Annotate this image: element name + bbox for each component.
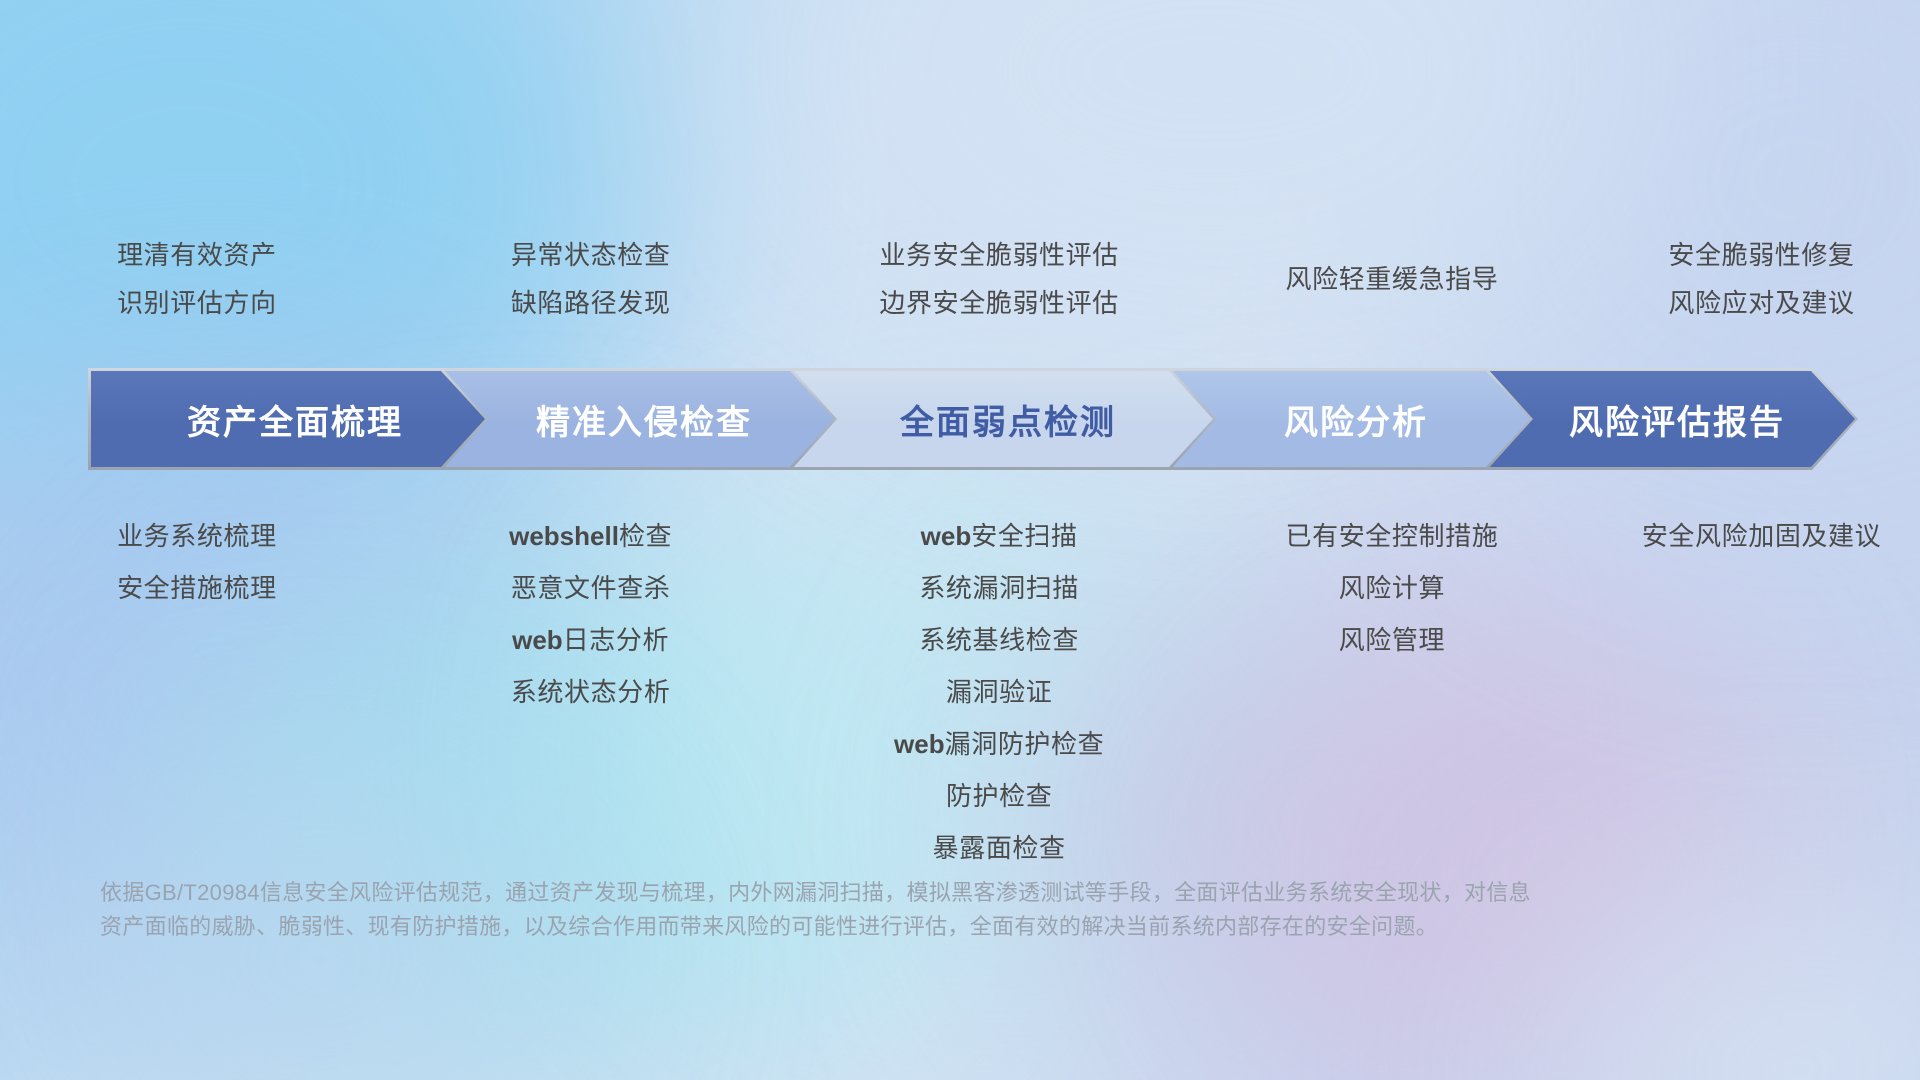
process-stage-risk-report[interactable]: 风险评估报告	[1482, 368, 1858, 470]
activity-item: 业务系统梳理	[117, 523, 277, 549]
outcome-item: 异常状态检查	[511, 242, 671, 268]
process-stage-risk-analysis[interactable]: 风险分析	[1165, 368, 1533, 470]
top-outcomes-risk-analysis: 风险轻重缓急指导	[1211, 224, 1573, 334]
activity-item: 风险计算	[1339, 575, 1445, 601]
top-outcomes-intrusion-check: 异常状态检查缺陷路径发现	[394, 224, 788, 334]
activity-latin: web	[512, 625, 563, 655]
top-outcomes-row: 理清有效资产识别评估方向异常状态检查缺陷路径发现业务安全脆弱性评估边界安全脆弱性…	[0, 224, 1920, 334]
outcome-item: 理清有效资产	[117, 242, 277, 268]
activity-item: 安全风险加固及建议	[1642, 523, 1881, 549]
activity-latin: web	[921, 521, 972, 551]
activities-intrusion-check: webshell检查恶意文件查杀web日志分析系统状态分析	[394, 505, 788, 705]
footer-line-1: 依据GB/T20984信息安全风险评估规范，通过资产发现与梳理，内外网漏洞扫描，…	[100, 876, 1660, 910]
stage-title-risk-analysis: 风险分析	[1270, 395, 1428, 444]
process-stage-asset-inventory[interactable]: 资产全面梳理	[88, 368, 488, 470]
bottom-activities-row: 业务系统梳理安全措施梳理webshell检查恶意文件查杀web日志分析系统状态分…	[0, 505, 1920, 861]
activity-item: web日志分析	[512, 627, 669, 653]
top-outcomes-asset-inventory: 理清有效资产识别评估方向	[0, 224, 394, 334]
activity-item: 系统状态分析	[511, 679, 671, 705]
footer-description: 依据GB/T20984信息安全风险评估规范，通过资产发现与梳理，内外网漏洞扫描，…	[100, 876, 1660, 944]
activity-item: web漏洞防护检查	[894, 731, 1104, 757]
activities-asset-inventory: 业务系统梳理安全措施梳理	[0, 505, 394, 601]
process-chevron-banner: 资产全面梳理精准入侵检查全面弱点检测风险分析风险评估报告	[88, 368, 1858, 470]
activity-cn: 检查	[619, 521, 672, 551]
top-outcomes-weakness-detection: 业务安全脆弱性评估边界安全脆弱性评估	[788, 224, 1211, 334]
outcome-item: 风险应对及建议	[1668, 290, 1854, 316]
activity-item: web安全扫描	[921, 523, 1078, 549]
activity-item: 防护检查	[946, 783, 1052, 809]
outcome-item: 边界安全脆弱性评估	[879, 290, 1118, 316]
footer-line-2: 资产面临的威胁、脆弱性、现有防护措施，以及综合作用而带来风险的可能性进行评估，全…	[100, 910, 1660, 944]
activity-item: 系统基线检查	[919, 627, 1079, 653]
outcome-item: 风险轻重缓急指导	[1286, 266, 1499, 292]
activity-cn: 漏洞防护检查	[945, 729, 1105, 759]
activity-item: webshell检查	[509, 523, 672, 549]
stage-title-asset-inventory: 资产全面梳理	[173, 395, 403, 444]
activity-item: 漏洞验证	[946, 679, 1052, 705]
outcome-item: 识别评估方向	[117, 290, 277, 316]
activity-latin: web	[894, 729, 945, 759]
activity-item: 安全措施梳理	[117, 575, 277, 601]
activity-item: 恶意文件查杀	[511, 575, 671, 601]
outcome-item: 安全脆弱性修复	[1668, 242, 1854, 268]
activities-weakness-detection: web安全扫描系统漏洞扫描系统基线检查漏洞验证web漏洞防护检查防护检查暴露面检…	[788, 505, 1211, 861]
stage-title-intrusion-check: 精准入侵检查	[522, 395, 752, 444]
top-outcomes-risk-report: 安全脆弱性修复风险应对及建议	[1603, 224, 1920, 334]
process-stage-intrusion-check[interactable]: 精准入侵检查	[437, 368, 837, 470]
stage-title-weakness-detection: 全面弱点检测	[886, 395, 1116, 444]
process-stage-weakness-detection[interactable]: 全面弱点检测	[786, 368, 1216, 470]
outcome-item: 缺陷路径发现	[511, 290, 671, 316]
activity-item: 暴露面检查	[933, 835, 1066, 861]
outcome-item: 业务安全脆弱性评估	[879, 242, 1118, 268]
activity-cn: 安全扫描	[971, 521, 1077, 551]
activity-cn: 日志分析	[563, 625, 669, 655]
activity-latin: webshell	[509, 521, 619, 551]
activity-item: 已有安全控制措施	[1286, 523, 1499, 549]
activity-item: 风险管理	[1339, 627, 1445, 653]
stage-title-risk-report: 风险评估报告	[1555, 395, 1785, 444]
activities-risk-analysis: 已有安全控制措施风险计算风险管理	[1211, 505, 1573, 653]
activities-risk-report: 安全风险加固及建议	[1603, 505, 1920, 549]
activity-item: 系统漏洞扫描	[919, 575, 1079, 601]
